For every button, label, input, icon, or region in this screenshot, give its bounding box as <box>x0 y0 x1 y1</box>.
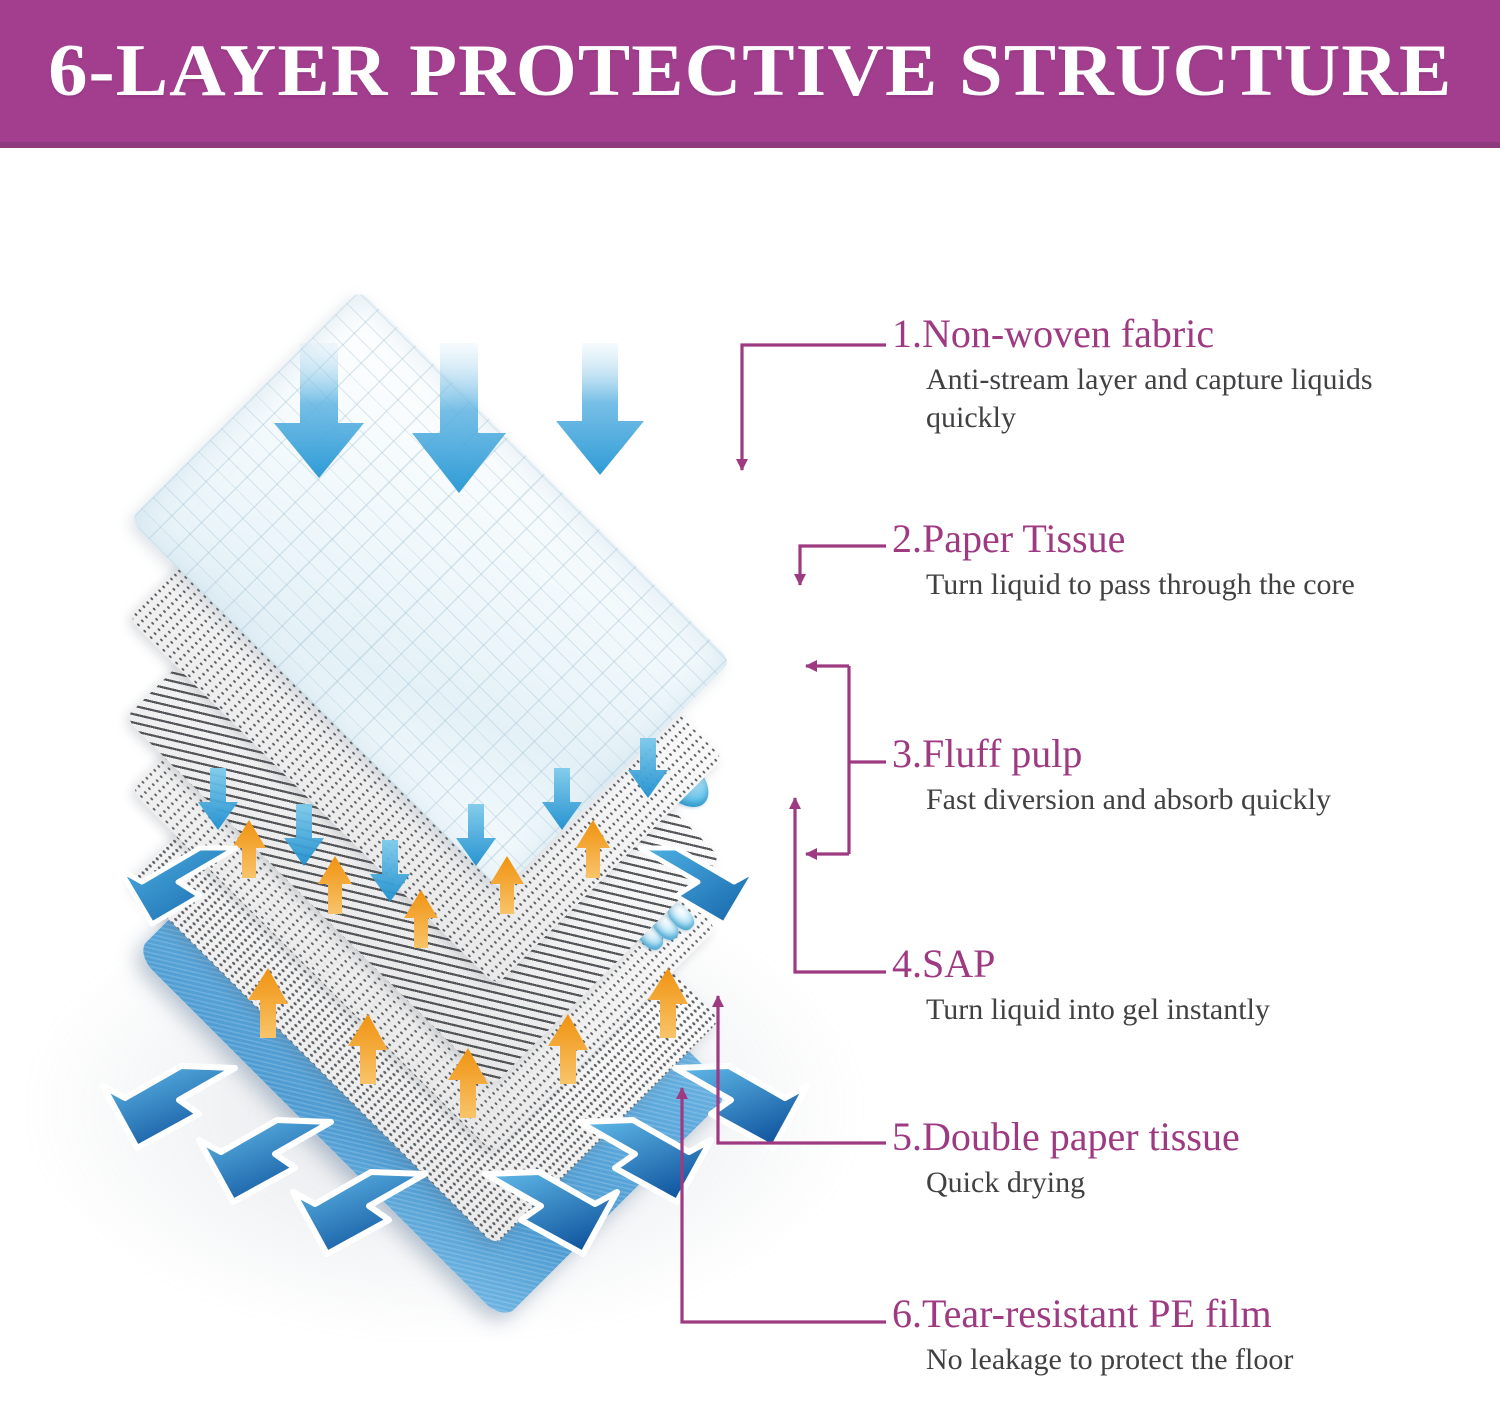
callout-desc-1: Anti-stream layer and capture liquids qu… <box>926 361 1426 437</box>
callout-desc-2: Turn liquid to pass through the core <box>926 566 1426 604</box>
flow-arrow-down-1 <box>274 343 364 478</box>
callout-title-4: 4.SAP <box>892 943 1492 985</box>
callout-desc-5: Quick drying <box>926 1164 1426 1202</box>
callout-title-3: 3.Fluff pulp <box>892 733 1492 775</box>
callout-layer-3: 3.Fluff pulp Fast diversion and absorb q… <box>892 733 1492 819</box>
callout-layer-1: 1.Non-woven fabric Anti-stream layer and… <box>892 313 1492 437</box>
page-title: 6-LAYER PROTECTIVE STRUCTURE <box>48 29 1452 114</box>
header-banner: 6-LAYER PROTECTIVE STRUCTURE <box>0 0 1500 148</box>
flow-arrow-down-2 <box>412 343 506 493</box>
callout-layer-6: 6.Tear-resistant PE film No leakage to p… <box>892 1293 1492 1379</box>
callout-title-5: 5.Double paper tissue <box>892 1116 1492 1158</box>
callout-list: 1.Non-woven fabric Anti-stream layer and… <box>880 148 1500 1426</box>
outward-diversion-arrows <box>95 1048 815 1288</box>
callout-layer-2: 2.Paper Tissue Turn liquid to pass throu… <box>892 518 1492 604</box>
top-liquid-flow-arrows <box>250 343 670 513</box>
callout-layer-5: 5.Double paper tissue Quick drying <box>892 1116 1492 1202</box>
callout-layer-4: 4.SAP Turn liquid into gel instantly <box>892 943 1492 1029</box>
callout-title-6: 6.Tear-resistant PE film <box>892 1293 1492 1335</box>
callout-title-1: 1.Non-woven fabric <box>892 313 1492 355</box>
callout-desc-4: Turn liquid into gel instantly <box>926 991 1426 1029</box>
layer-stack-diagram <box>0 148 900 1426</box>
callout-desc-6: No leakage to protect the floor <box>926 1341 1426 1379</box>
infographic-stage: 1.Non-woven fabric Anti-stream layer and… <box>0 148 1500 1426</box>
flow-arrow-down-3 <box>556 343 644 475</box>
callout-title-2: 2.Paper Tissue <box>892 518 1492 560</box>
callout-desc-3: Fast diversion and absorb quickly <box>926 781 1426 819</box>
